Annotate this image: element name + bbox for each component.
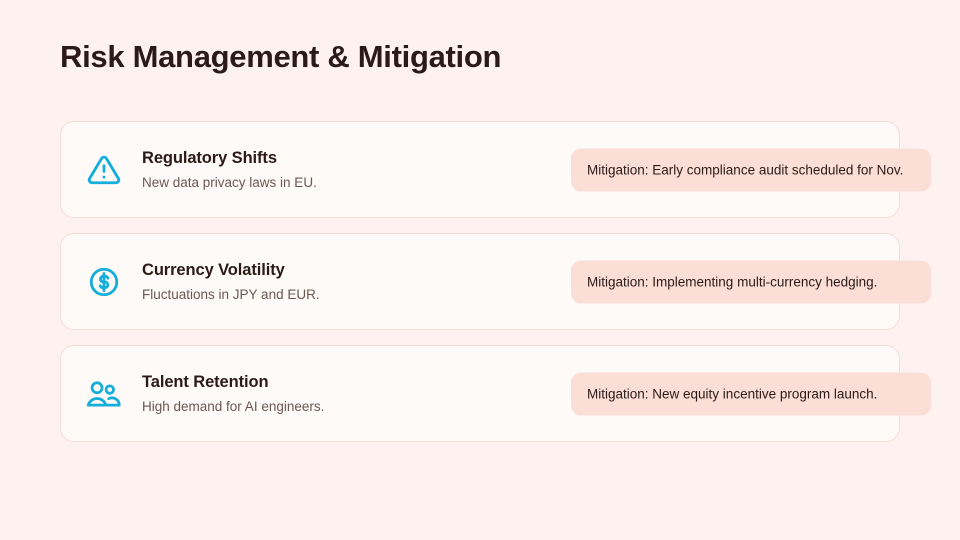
mitigation-badge: Mitigation: New equity incentive program…	[571, 372, 931, 415]
mitigation-container: Mitigation: Implementing multi-currency …	[571, 260, 931, 303]
mitigation-container: Mitigation: New equity incentive program…	[571, 372, 931, 415]
risk-text-block: Regulatory Shifts New data privacy laws …	[142, 147, 472, 192]
dollar-circle-icon	[84, 262, 124, 302]
risk-description: New data privacy laws in EU.	[142, 174, 472, 192]
risk-card[interactable]: Talent Retention High demand for AI engi…	[60, 345, 900, 442]
risk-text-block: Currency Volatility Fluctuations in JPY …	[142, 259, 472, 304]
slide-root: Risk Management & Mitigation Regulatory …	[0, 0, 960, 540]
risk-list: Regulatory Shifts New data privacy laws …	[60, 121, 900, 442]
mitigation-container: Mitigation: Early compliance audit sched…	[571, 148, 931, 191]
risk-text-block: Talent Retention High demand for AI engi…	[142, 371, 472, 416]
risk-title: Regulatory Shifts	[142, 147, 472, 169]
mitigation-badge: Mitigation: Implementing multi-currency …	[571, 260, 931, 303]
users-group-icon	[84, 374, 124, 414]
risk-card[interactable]: Currency Volatility Fluctuations in JPY …	[60, 233, 900, 330]
page-title: Risk Management & Mitigation	[60, 36, 501, 78]
warning-triangle-icon	[84, 150, 124, 190]
risk-title: Currency Volatility	[142, 259, 472, 281]
risk-card[interactable]: Regulatory Shifts New data privacy laws …	[60, 121, 900, 218]
risk-title: Talent Retention	[142, 371, 472, 393]
mitigation-badge: Mitigation: Early compliance audit sched…	[571, 148, 931, 191]
risk-description: Fluctuations in JPY and EUR.	[142, 286, 472, 304]
risk-description: High demand for AI engineers.	[142, 398, 472, 416]
